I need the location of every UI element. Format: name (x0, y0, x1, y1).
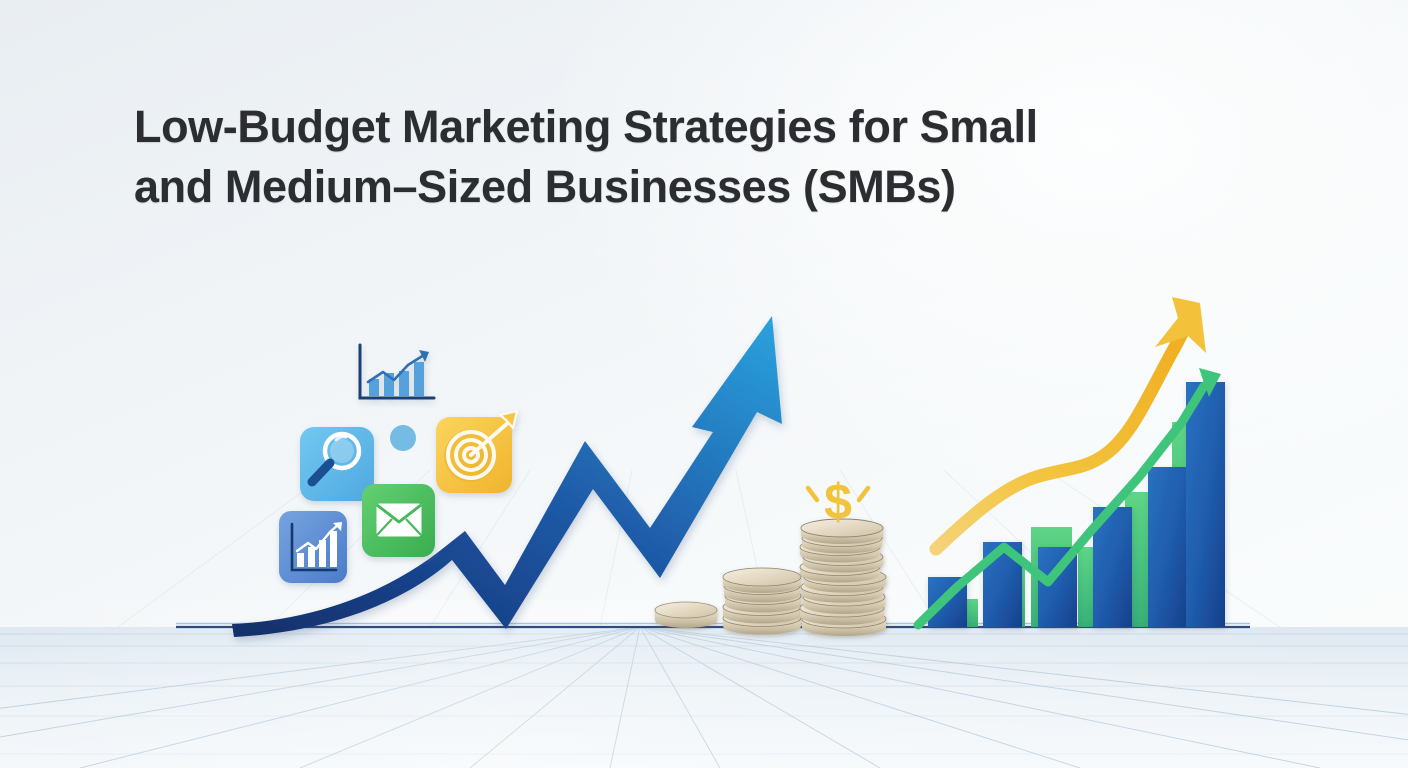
page-title: Low-Budget Marketing Strategies for Smal… (134, 97, 1164, 217)
hero-banner: $ (0, 0, 1408, 768)
